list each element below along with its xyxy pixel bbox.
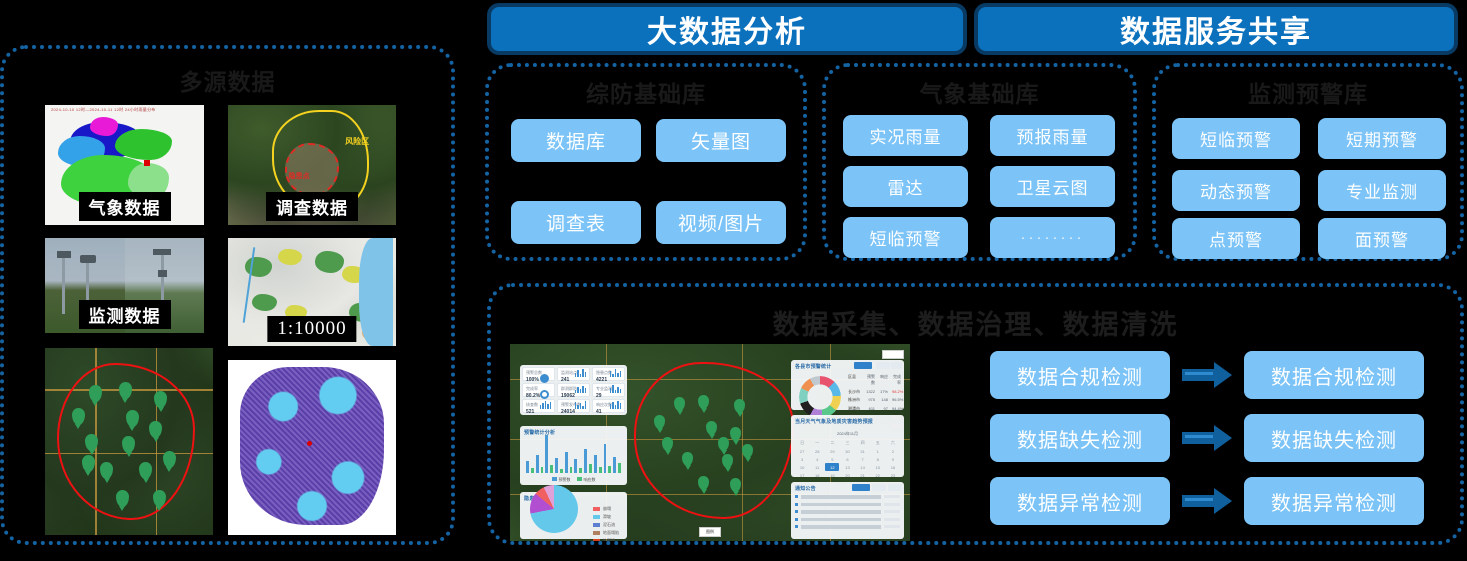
river [359,238,393,346]
station-pin [730,427,741,441]
chip-label: 短临预警 [1200,126,1272,151]
chip-more-ellipsis[interactable]: ········ [990,217,1115,258]
station-pin [163,451,176,468]
stat-card[interactable]: 响应次数 41 [592,399,625,413]
donut-chart [799,376,841,418]
tab-quarter[interactable] [876,362,890,369]
station-pin [119,382,132,399]
chip-label: 动态预警 [1200,178,1272,203]
flow-arrow-icon [1182,425,1232,451]
card-title: 各县市预警统计 [795,363,831,370]
stat-card[interactable]: 预警发布数 24014 [557,399,590,413]
stat-value: 41 [596,409,602,415]
map-scale-bar [882,350,904,359]
tab-year[interactable] [891,362,902,369]
chart-legend: 预警数 响应数 [552,477,596,483]
chart-legend: 崩塌 滑坡 泥石流 地面塌陷 地裂缝 其他 不稳定斜坡 [593,506,623,541]
legend-item: 地面塌陷 [593,530,623,536]
chip-label: 数据合规检测 [1017,361,1143,390]
tile-monitoring-data: 监测数据 [45,238,204,333]
chip-radar[interactable]: 雷达 [843,166,968,207]
bar-chart [526,433,621,473]
rain-blob [115,129,172,160]
station-pin [662,437,673,451]
stat-card[interactable]: 完成率 80.2% [522,383,555,397]
chip-label: 数据合规检测 [1271,361,1397,390]
calendar-week: 171819 20212223 [795,471,900,479]
stat-card[interactable]: 预警总数 100% [522,367,555,381]
sparkline [610,384,622,393]
data-processing-title: 数据采集、数据治理、数据清洗 [487,303,1464,342]
risk-zone-label: 风险区 [345,136,369,147]
sparkline [575,384,587,393]
calendar-weekdays: 日一二 三四五六 [795,438,900,447]
tab-policy[interactable] [872,484,886,491]
chip-label: 短期预警 [1346,126,1418,151]
pie-chart [530,485,578,533]
station-pin [718,437,729,451]
station-pin [116,490,129,507]
news-list [795,495,900,529]
tile-survey-data: 风险区 隐患点 调查数据 [228,105,396,225]
multi-source-data-title: 多源数据 [0,63,455,97]
tile-caption: 气象数据 [79,192,171,221]
sensor-head [57,251,71,258]
sensor-head [80,255,96,263]
stat-label: 预警总数 [526,370,542,376]
chip-area-warning[interactable]: 面预警 [1318,218,1446,259]
list-item[interactable] [795,510,900,514]
chip-short-term-warning[interactable]: 短临预警 [843,217,968,258]
list-item[interactable] [795,503,900,507]
stat-card[interactable]: 群测群防 19062 [557,383,590,397]
chip-label: 预报雨量 [1017,123,1089,148]
flow-source-compliance-check[interactable]: 数据合规检测 [990,351,1170,399]
choropleth-map [228,360,396,535]
landuse-patch [252,294,277,311]
bullet-icon [795,503,798,506]
chip-label: 实况雨量 [870,123,942,148]
calendar-month: 2024年11月 [795,429,900,438]
bar-chart-card[interactable]: 预警统计分析 预警数 响应数 [520,426,627,485]
tile-topographic-map: 1:10000 [228,238,396,346]
chip-label: 数据异常检测 [1271,487,1397,516]
progress-ring [540,374,549,383]
panel-title-monitoring-warning-base: 监测预警库 [1152,75,1464,109]
stat-label: 核查数 [526,402,538,408]
flow-arrow-icon [1182,362,1232,388]
sparkline [575,368,587,377]
legend-item: 预警数 [552,477,571,483]
county-boundary [634,362,794,520]
tile-caption: 调查数据 [266,192,358,221]
stat-card[interactable]: 专业监测 29 [592,383,625,397]
sensor-arm [153,249,171,255]
chip-label: 卫星云图 [1017,174,1089,199]
calendar-week: 272829 303112 [795,447,900,455]
rain-blob [90,117,119,136]
chip-label: 面预警 [1355,226,1409,251]
legend-item: 崩塌 [593,506,623,512]
header-label: 大数据分析 [647,7,807,51]
tab-month[interactable] [854,362,872,369]
table-row: 湘潭市6119794.4% [848,406,901,412]
chip-short-term-warning[interactable]: 短期预警 [1318,118,1446,159]
station-pin [153,490,166,507]
flow-target-anomaly-check[interactable]: 数据异常检测 [1244,477,1424,525]
calendar-selected-day[interactable]: 12 [825,463,839,471]
legend-item: 泥石流 [593,522,623,528]
sparkline [610,368,622,377]
progress-ring [540,390,549,399]
panel-title-meteorological-base: 气象基础库 [822,75,1137,109]
diagram-canvas: 多源数据 2024-10-10 12时—2024-10-11 12时 24小时雨… [0,0,1467,561]
table-header-row: 区县预警数响应完成率 [848,374,901,386]
table-row: 株洲市97514896.5% [848,397,901,403]
chip-professional-monitoring[interactable]: 专业监测 [1318,170,1446,211]
tile-caption: 1:10000 [267,316,356,342]
station-pin [82,455,95,472]
stat-value: 521 [526,409,534,415]
chip-label: 数据库 [546,127,606,154]
station-pin [126,410,139,427]
flow-source-missing-check[interactable]: 数据缺失检测 [990,414,1170,462]
tab-notice[interactable] [852,484,870,491]
stat-card[interactable]: 核查数 521 [522,399,555,413]
legend-item: 响应数 [577,477,596,483]
map-footer-label: 图例 [699,527,721,537]
chip-imminent-warning[interactable]: 短临预警 [1172,118,1300,159]
sensor-pole [62,255,65,314]
list-item[interactable] [795,518,900,522]
bullet-icon [795,510,798,513]
stat-card[interactable]: 隐患点数 4221 [592,367,625,381]
chip-label: 数据异常检测 [1017,487,1143,516]
chip-survey-form[interactable]: 调查表 [511,201,641,244]
bullet-icon [795,495,798,498]
news-list-card[interactable]: 通知公告 [791,482,904,539]
donut-chart-card[interactable]: 各县市预警统计 区县预警数响应完成率 长沙市132217%98.2% 株洲市97… [791,360,904,410]
chip-label: 点预警 [1209,226,1263,251]
flow-source-anomaly-check[interactable]: 数据异常检测 [990,477,1170,525]
radar-map-header: 2024-10-10 12时—2024-10-11 12时 24小时雨量分布 [51,107,156,113]
sparkline [610,400,622,409]
station-pin [72,408,85,425]
calendar[interactable]: 2024年11月 日一二 三四五六 272829 303112 345 6789… [795,429,900,487]
stat-card-group: 预警总数 100% 监测站点 241 隐患点数 4221 完成率 80.2% 群… [520,365,627,415]
flow-target-missing-check[interactable]: 数据缺失检测 [1244,414,1424,462]
landuse-patch [278,249,302,265]
satellite-station-map [45,348,213,535]
chip-label: 短临预警 [870,225,942,250]
hazard-point-label: 隐患点 [288,171,309,181]
chip-label: 矢量图 [691,127,751,154]
tile-caption: 监测数据 [79,300,171,329]
chip-video-image[interactable]: 视频/图片 [656,201,786,244]
card-title: 当月天气气象及地质灾害趋势预报 [795,418,873,425]
bullet-icon [795,518,798,521]
chip-database[interactable]: 数据库 [511,119,641,162]
legend-item: 地裂缝 [593,538,623,541]
calendar-week: 101112 13141516 [795,463,900,471]
bi-dashboard-screenshot[interactable]: 图例 预警总数 100% 监测站点 241 隐患点数 4221 完成率 80.2… [510,344,910,541]
chip-dynamic-warning[interactable]: 动态预警 [1172,170,1300,211]
calendar-card[interactable]: 当月天气气象及地质灾害趋势预报 2024年11月 日一二 三四五六 272829… [791,415,904,477]
chip-forecast-rainfall[interactable]: 预报雨量 [990,115,1115,156]
capital-marker [307,441,312,446]
province-shape [240,367,384,525]
stat-label: 完成率 [526,386,538,392]
chip-satellite-cloud-map[interactable]: 卫星云图 [990,166,1115,207]
calendar-week: 345 6789 [795,455,900,463]
sensor-box [158,270,167,277]
tab-more[interactable] [888,484,901,491]
landuse-patch [315,251,344,273]
header-big-data-analysis[interactable]: 大数据分析 [487,3,967,55]
flow-arrow-icon [1182,488,1232,514]
tile-weather-data: 2024-10-10 12时—2024-10-11 12时 24小时雨量分布 气… [45,105,204,225]
bullet-icon [795,525,798,528]
sparkline [575,400,587,409]
table-row: 长沙市132217%98.2% [848,389,901,395]
chip-observed-rainfall[interactable]: 实况雨量 [843,115,968,156]
tile-satellite-station-map [45,348,213,535]
stat-value: 24014 [561,409,575,415]
flow-target-compliance-check[interactable]: 数据合规检测 [1244,351,1424,399]
tile-choropleth-map [228,360,396,535]
chip-label: 调查表 [546,209,606,236]
header-data-service-sharing[interactable]: 数据服务共享 [974,3,1458,55]
chip-label: 视频/图片 [678,209,764,236]
chip-label: 雷达 [888,174,924,199]
chip-vector-map[interactable]: 矢量图 [656,119,786,162]
chip-point-warning[interactable]: 点预警 [1172,218,1300,259]
weather-radar-map: 2024-10-10 12时—2024-10-11 12时 24小时雨量分布 气… [45,105,204,225]
sparkline [540,400,552,409]
header-label: 数据服务共享 [1120,7,1312,51]
list-item[interactable] [795,525,900,529]
list-item[interactable] [795,495,900,499]
panel-title-comprehensive-prevention-base: 综防基础库 [485,75,807,109]
chip-label: ········ [1021,229,1085,246]
chip-label: 专业监测 [1346,178,1418,203]
calendar-header: 2024年11月 [795,429,900,438]
stat-card[interactable]: 监测站点 241 [557,367,590,381]
pie-chart-card[interactable]: 隐患点类型占比统计 崩塌 滑坡 泥石流 地面塌陷 地裂缝 其他 不稳定斜坡 [520,492,627,539]
legend-item: 滑坡 [593,514,623,520]
station-marker [144,160,150,166]
chip-label: 数据缺失检测 [1017,424,1143,453]
card-title: 通知公告 [795,485,816,492]
chip-label: 数据缺失检测 [1271,424,1397,453]
